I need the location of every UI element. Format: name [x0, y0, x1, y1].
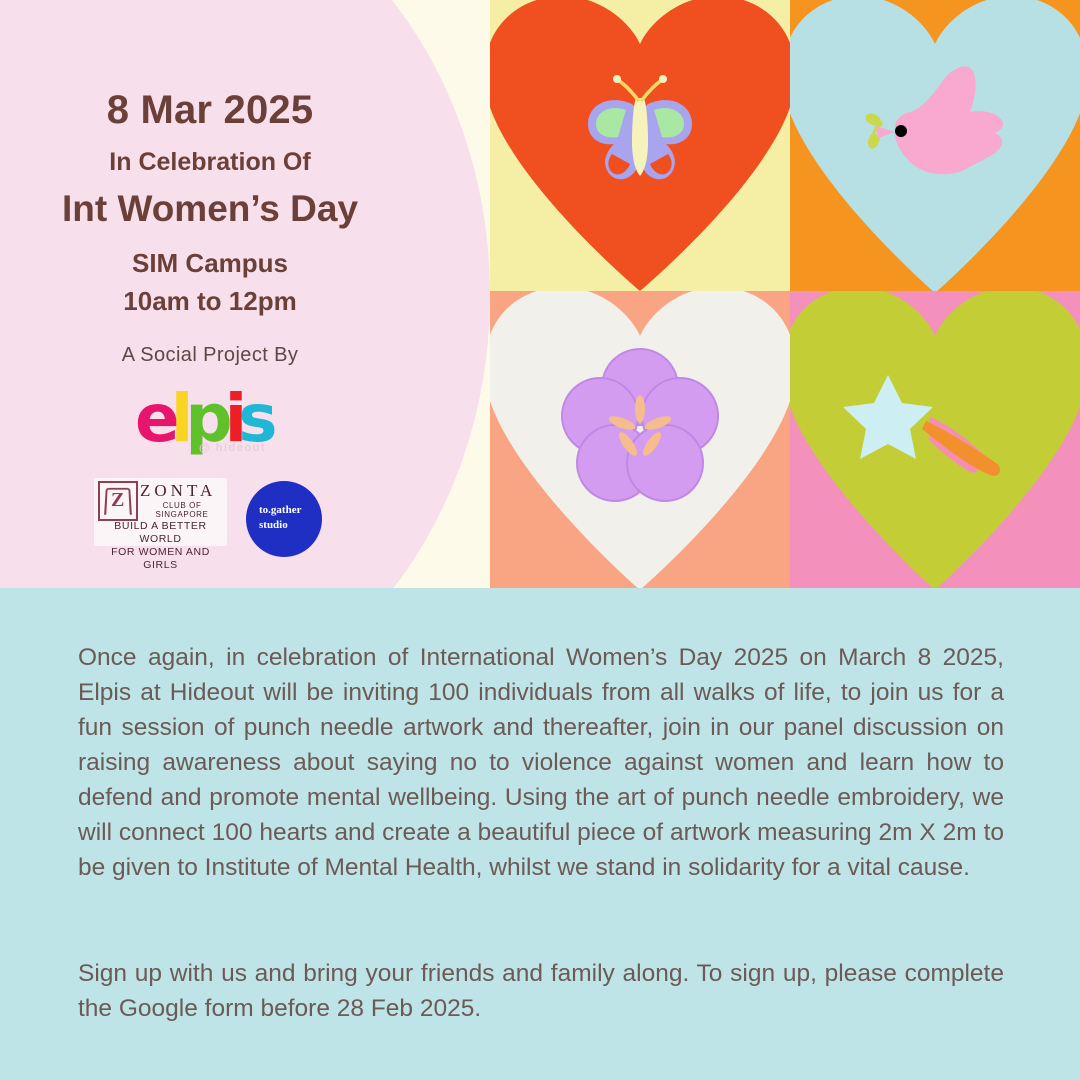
zonta-logo-top: Z ZONTA CLUB OF SINGAPORE [94, 478, 227, 520]
heart-cell-bottom-left [490, 291, 790, 588]
event-venue: SIM Campus [0, 248, 420, 279]
event-time: 10am to 12pm [0, 286, 420, 317]
body-paragraph-1: Once again, in celebration of Internatio… [78, 640, 1004, 885]
zonta-emblem-letter: Z [111, 489, 124, 512]
togather-line1: to.gather [259, 504, 301, 516]
zonta-tagline-line2: FOR WOMEN AND GIRLS [111, 546, 210, 571]
elpis-logo: elpis @ hideout [135, 386, 285, 458]
heart-grid [490, 0, 1080, 588]
zonta-tagline-line1: BUILD A BETTER WORLD [114, 520, 206, 545]
zonta-emblem-icon: Z [98, 481, 138, 521]
zonta-wordmark: ZONTA [140, 481, 216, 501]
heart-cell-top-right [790, 0, 1080, 291]
zonta-chapter-line2: SINGAPORE [156, 510, 209, 519]
zonta-logo: Z ZONTA CLUB OF SINGAPORE BUILD A BETTER… [94, 478, 227, 546]
event-date: 8 Mar 2025 [0, 88, 420, 133]
heart-cell-top-left [490, 0, 790, 291]
togather-studio-wordmark: to.gather studio [259, 503, 301, 533]
heart-top-right-icon [790, 0, 1080, 291]
credit-label: A Social Project By [0, 344, 420, 367]
heart-bottom-left-icon [490, 291, 790, 588]
body-section: Once again, in celebration of Internatio… [0, 588, 1080, 1080]
zonta-chapter: CLUB OF SINGAPORE [140, 501, 224, 519]
togather-line2: studio [259, 519, 288, 531]
event-title: Int Women’s Day [0, 188, 420, 230]
zonta-chapter-line1: CLUB OF [163, 501, 202, 510]
poster-root: 8 Mar 2025 In Celebration Of Int Women’s… [0, 0, 1080, 1080]
celebration-label: In Celebration Of [0, 148, 420, 177]
heart-bottom-right-icon [790, 291, 1080, 588]
hero-section: 8 Mar 2025 In Celebration Of Int Women’s… [0, 0, 1080, 588]
heart-cell-bottom-right [790, 291, 1080, 588]
heart-top-left-icon [490, 0, 790, 291]
elpis-letter-e: e [135, 386, 175, 452]
zonta-tagline: BUILD A BETTER WORLD FOR WOMEN AND GIRLS [94, 520, 227, 572]
body-paragraph-2: Sign up with us and bring your friends a… [78, 956, 1004, 1026]
elpis-tagline: @ hideout [199, 442, 266, 454]
togather-studio-logo: to.gather studio [246, 481, 322, 557]
